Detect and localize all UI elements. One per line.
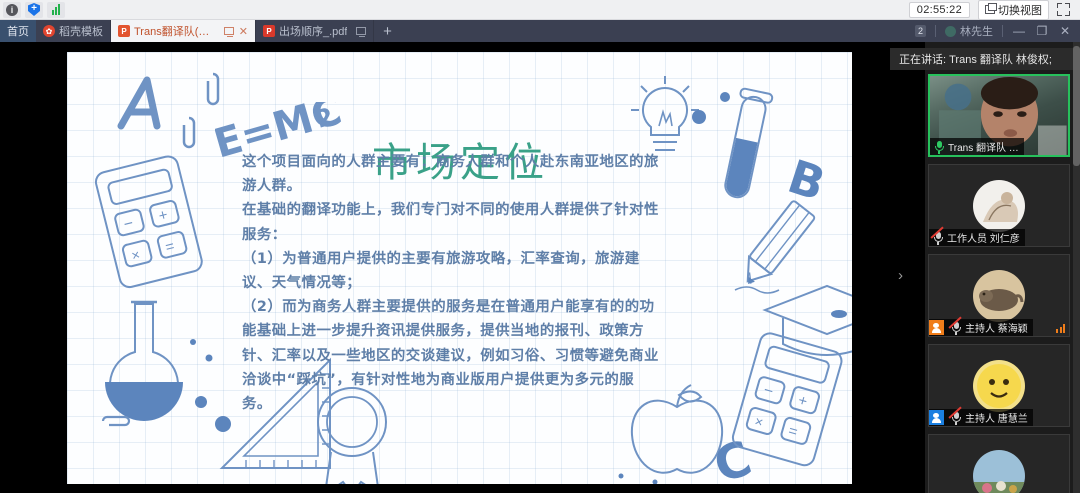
toolbar-right-controls: 02:55:22 切换视图 — [909, 0, 1080, 20]
avatar — [973, 180, 1025, 232]
signal-strength-icon — [1056, 324, 1065, 333]
document-tab-strip: 首页 ✿ 稻壳模板 P Trans翻译队(1)(1).pptx ✕ P 出场顺序… — [0, 20, 1080, 42]
letter-a-icon — [107, 74, 177, 134]
presentation-slide: E=MC 2 − + × = — [67, 52, 852, 484]
now-speaking-banner: 正在讲话: Trans 翻译队 林俊权; — [890, 48, 1080, 70]
panel-scrollbar-track[interactable] — [1073, 42, 1080, 493]
participant-name: 主持人 蔡海颖 — [965, 320, 1028, 335]
switch-view-button[interactable]: 切换视图 — [978, 0, 1049, 20]
participant-name-bar: 主持人 唐慧兰 — [929, 409, 1033, 426]
info-icon[interactable]: i — [3, 2, 21, 18]
switch-view-icon — [985, 5, 995, 14]
tab-label: 出场顺序_.pdf — [279, 23, 347, 39]
svg-text:−: − — [762, 382, 776, 401]
divider — [1002, 25, 1003, 37]
svg-text:×: × — [753, 413, 765, 431]
slide-body-text: 这个项目面向的人群主要有：商务人群和个人赴东南亚地区的旅游人群。 在基础的翻译功… — [242, 150, 662, 416]
close-button[interactable]: ✕ — [1058, 24, 1072, 38]
svg-text:=: = — [786, 422, 799, 441]
app-toolbar: i 02:55:22 切换视图 — [0, 0, 1080, 20]
shield-icon[interactable] — [25, 2, 43, 18]
switch-view-label: 切换视图 — [998, 2, 1042, 18]
meeting-timer: 02:55:22 — [909, 2, 970, 18]
meeting-screen-share-window: i 02:55:22 切换视图 首页 ✿ 稻壳模板 P Trans翻译队(1)( — [0, 0, 1080, 493]
participant-name-bar: 主持人 蔡海颖 — [929, 319, 1033, 336]
svg-text:+: + — [796, 392, 809, 411]
close-icon[interactable]: ✕ — [239, 25, 248, 38]
avatar-image — [973, 180, 1025, 232]
avatar — [973, 360, 1025, 412]
participant-count-badge: 2 — [915, 25, 926, 37]
participant-name: 主持人 唐慧兰 — [965, 410, 1028, 425]
user-name: 林先生 — [960, 23, 993, 39]
avatar — [945, 26, 956, 37]
calculator-icon-2: − + × = — [715, 332, 852, 482]
avatar — [973, 270, 1025, 322]
divider — [935, 25, 936, 37]
microphone-muted-icon — [932, 231, 944, 245]
participant-tile[interactable]: 主持人 唐慧兰 — [928, 344, 1070, 427]
window-controls: 2 林先生 — ❐ ✕ — [915, 20, 1080, 42]
avatar-image — [973, 270, 1025, 322]
participant-name: 工作人员 刘仁彦 — [947, 230, 1020, 245]
microphone-muted-icon — [950, 411, 962, 425]
participant-name: Trans 翻译队 … — [948, 139, 1019, 154]
microphone-muted-icon — [950, 321, 962, 335]
svg-text:−: − — [122, 215, 135, 234]
signal-bars-icon[interactable] — [47, 2, 65, 18]
microphone-on-icon — [933, 140, 945, 154]
current-user[interactable]: 林先生 — [945, 23, 993, 39]
paperclip-icon — [175, 114, 203, 152]
participant-tile[interactable]: 主持人 蔡海颖 — [928, 254, 1070, 337]
minimize-button[interactable]: — — [1012, 24, 1026, 38]
svg-text:×: × — [130, 246, 142, 264]
participant-tile[interactable]: 工作人员 刘仁彦 — [928, 164, 1070, 247]
svg-text:+: + — [157, 206, 170, 225]
powerpoint-icon: P — [118, 25, 130, 37]
avatar-image — [973, 360, 1025, 412]
svg-text:=: = — [164, 238, 177, 257]
panel-scrollbar-thumb[interactable] — [1073, 46, 1080, 166]
avatar — [973, 450, 1025, 493]
fullscreen-icon[interactable] — [1057, 3, 1070, 16]
tab-pdf-order[interactable]: P 出场顺序_.pdf — [256, 20, 374, 42]
cast-icon[interactable] — [224, 27, 234, 35]
docer-icon: ✿ — [43, 25, 55, 37]
new-tab-button[interactable]: + — [374, 20, 400, 42]
tab-docer-template[interactable]: ✿ 稻壳模板 — [36, 20, 111, 42]
shared-screen-stage[interactable]: E=MC 2 − + × = — [0, 42, 925, 493]
toolbar-left-icons: i — [0, 2, 65, 18]
pdf-icon: P — [263, 25, 275, 37]
dots-decoration-icon — [687, 87, 747, 147]
calculator-icon: − + × = — [87, 152, 217, 292]
paperclip-icon — [99, 410, 135, 432]
tab-pptx-trans[interactable]: P Trans翻译队(1)(1).pptx ✕ — [111, 20, 256, 42]
cast-icon[interactable] — [356, 27, 366, 35]
tab-label: Trans翻译队(1)(1).pptx — [134, 23, 215, 39]
avatar-image — [973, 450, 1025, 493]
restore-button[interactable]: ❐ — [1035, 24, 1049, 38]
participant-video-panel: 正在讲话: Trans 翻译队 林俊权; › — [925, 42, 1080, 493]
participant-name-bar: 工作人员 刘仁彦 — [929, 229, 1025, 246]
dots-decoration-icon — [607, 462, 727, 484]
host-badge-icon — [929, 410, 944, 425]
tab-label: 稻壳模板 — [59, 23, 103, 39]
chevron-right-icon[interactable]: › — [898, 267, 903, 284]
tab-home[interactable]: 首页 — [0, 20, 36, 42]
participant-tile-speaking[interactable]: Trans 翻译队 … — [928, 74, 1070, 157]
participant-name-bar: Trans 翻译队 … — [930, 138, 1024, 155]
participant-tile[interactable]: 邓可岗 — [928, 434, 1070, 493]
host-badge-icon — [929, 320, 944, 335]
